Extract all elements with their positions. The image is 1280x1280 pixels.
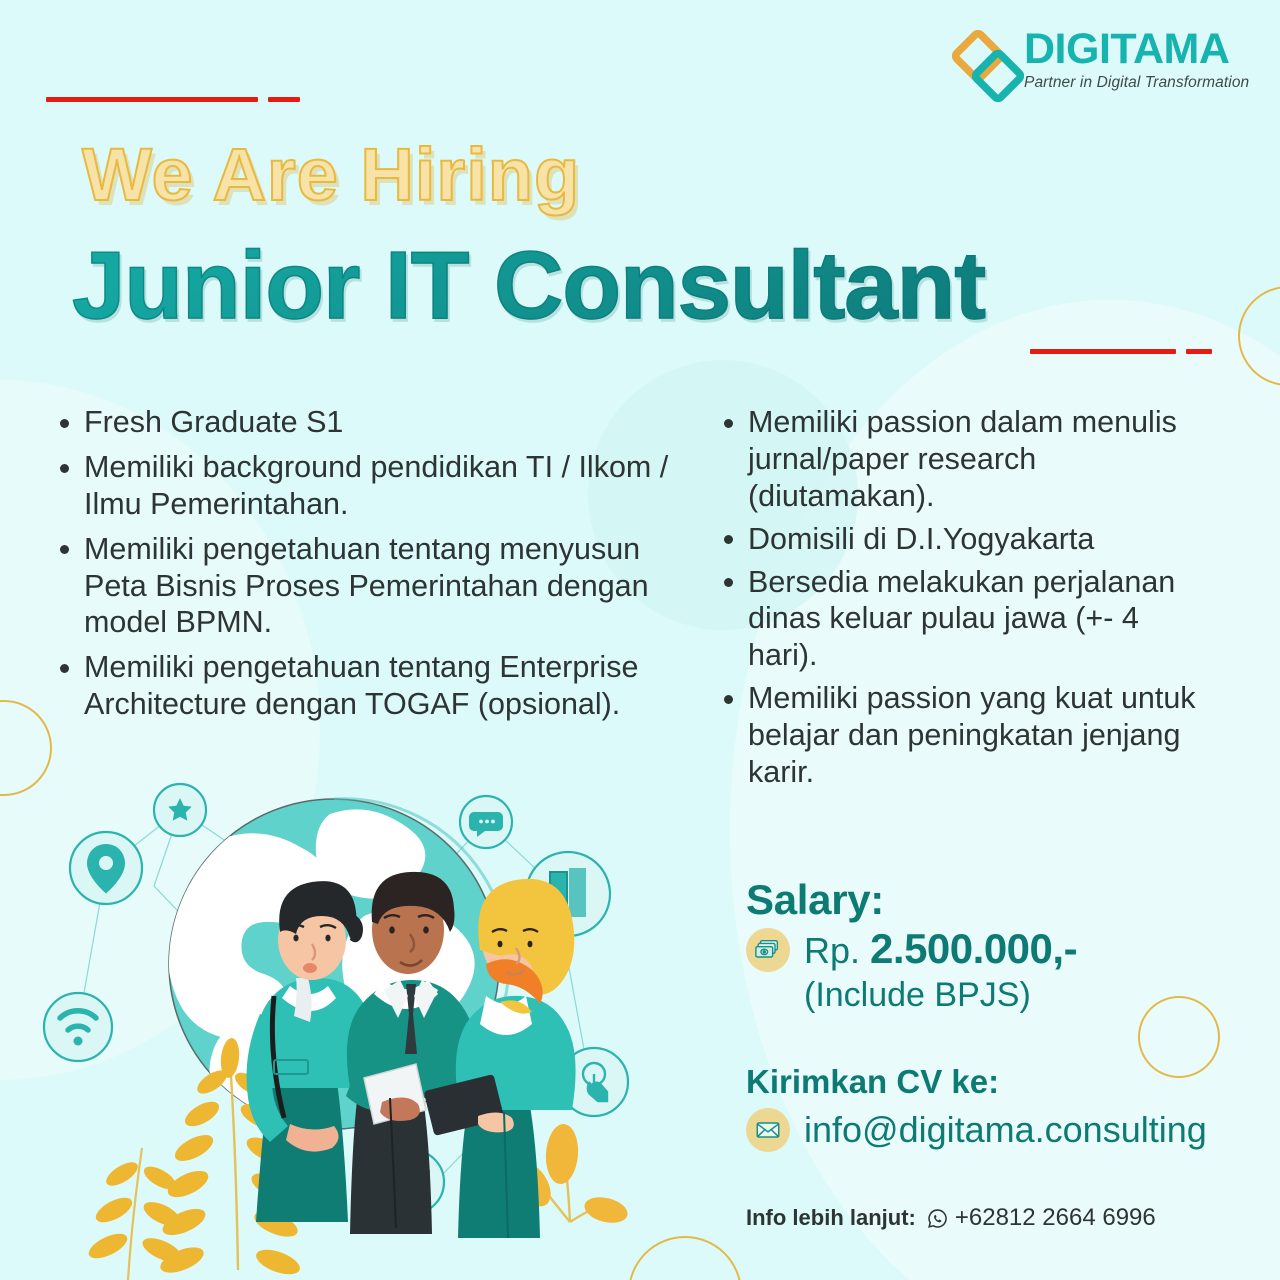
brand-name: DIGITAMA — [1024, 26, 1252, 72]
gold-ring-top-right — [1238, 286, 1280, 386]
page-title: Junior IT Consultant — [72, 232, 985, 340]
requirements-column-right: Memiliki passion dalam menulis jurnal/pa… — [710, 404, 1210, 797]
salary-amount-row: Rp. 2.500.000,- — [746, 928, 1246, 972]
hiring-eyebrow: We Are Hiring — [82, 136, 580, 214]
brand-logo: DIGITAMA Partner in Digital Transformati… — [952, 24, 1252, 108]
red-rule-title — [1030, 349, 1176, 354]
money-icon — [746, 928, 790, 972]
phone-number[interactable]: +62812 2664 6996 — [955, 1204, 1156, 1232]
cv-label: Kirimkan CV ke: — [746, 1062, 1266, 1102]
requirements-column-left: Fresh Graduate S1 Memiliki background pe… — [46, 404, 686, 731]
salary-note: (Include BPJS) — [804, 974, 1246, 1016]
consultants-illustration — [34, 782, 674, 1280]
further-info-label: Info lebih lanjut: — [746, 1204, 916, 1232]
salary-label: Salary: — [746, 876, 1246, 924]
list-item: Memiliki background pendidikan TI / Ilko… — [46, 449, 686, 523]
whatsapp-icon — [926, 1207, 949, 1230]
list-item: Domisili di D.I.Yogyakarta — [710, 521, 1210, 558]
email-row[interactable]: info@digitama.consulting — [746, 1108, 1266, 1152]
salary-section: Salary: Rp. 2.500.000,- (Include BPJS — [746, 876, 1246, 1016]
hiring-poster: DIGITAMA Partner in Digital Transformati… — [0, 0, 1280, 1280]
list-item: Memiliki passion dalam menulis jurnal/pa… — [710, 404, 1210, 515]
salary-amount: Rp. 2.500.000,- — [804, 928, 1077, 972]
red-dash-title — [1186, 349, 1212, 354]
list-item: Fresh Graduate S1 — [46, 404, 686, 441]
cv-section: Kirimkan CV ke: info@digitama.consulting — [746, 1062, 1266, 1152]
list-item: Memiliki pengetahuan tentang menyusun Pe… — [46, 531, 686, 642]
wheat-plant-left-small — [85, 1148, 185, 1280]
salary-value: 2.500.000,- — [870, 925, 1077, 972]
further-info-row: Info lebih lanjut: +62812 2664 6996 — [746, 1204, 1156, 1232]
requirements-list-right: Memiliki passion dalam menulis jurnal/pa… — [710, 404, 1210, 791]
requirements-list-left: Fresh Graduate S1 Memiliki background pe… — [46, 404, 686, 723]
list-item: Bersedia melakukan perjalanan dinas kelu… — [710, 564, 1210, 675]
digitama-diamond-icon — [952, 30, 1024, 102]
list-item: Memiliki pengetahuan tentang Enterprise … — [46, 649, 686, 723]
envelope-icon — [746, 1108, 790, 1152]
list-item: Memiliki passion yang kuat untuk belajar… — [710, 680, 1210, 791]
red-dash-top — [268, 97, 300, 102]
salary-currency: Rp. — [804, 930, 860, 971]
brand-logo-text: DIGITAMA Partner in Digital Transformati… — [1024, 26, 1252, 93]
brand-tagline: Partner in Digital Transformation — [1024, 73, 1252, 93]
email-address[interactable]: info@digitama.consulting — [804, 1109, 1207, 1151]
red-rule-top — [46, 97, 258, 102]
